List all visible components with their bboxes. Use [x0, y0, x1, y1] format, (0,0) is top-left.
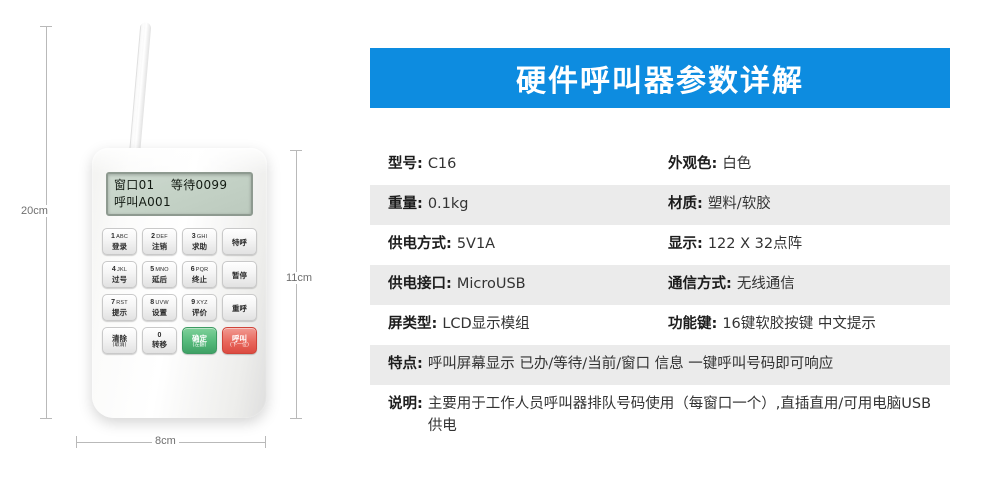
spec-cell-model: 型号: C16: [388, 154, 668, 176]
dim-width-label: 8cm: [152, 435, 179, 447]
dim-width-tick-right: [265, 436, 266, 448]
key-confirm[interactable]: 确定 (左翻): [182, 327, 217, 354]
key-0-label: 转移: [152, 341, 167, 349]
key-clear-sublabel: (取消): [113, 343, 127, 348]
key-2-logout[interactable]: 2DEF 注销: [142, 228, 177, 255]
spec-cell-color: 外观色: 白色: [668, 154, 950, 176]
spec-row-weight: 重量: 0.1kg 材质: 塑料/软胶: [370, 185, 950, 225]
spec-value-feature: 呼叫屏幕显示 已办/等待/当前/窗口 信息 一键呼叫号码即可响应: [428, 354, 833, 376]
antenna: [129, 22, 151, 154]
spec-key-feature: 特点:: [388, 354, 423, 376]
key-3-letters: GHI: [197, 235, 207, 241]
key-1-label: 登录: [112, 243, 127, 251]
spec-cell-screen-type: 屏类型: LCD显示模组: [388, 314, 668, 336]
spec-cell-function-keys: 功能键: 16键软胶按键 中文提示: [668, 314, 950, 336]
spec-cell-note: 说明: 主要用于工作人员呼叫器排队号码使用（每窗口一个）,直插直用/可用电脑US…: [388, 394, 950, 438]
keypad-row-4: 清除 (取消) 0 转移 确定 (左翻) 呼叫 (下一位): [102, 327, 257, 354]
spec-row-feature: 特点: 呼叫屏幕显示 已办/等待/当前/窗口 信息 一键呼叫号码即可响应: [370, 345, 950, 385]
key-recall[interactable]: 重呼: [222, 294, 257, 321]
key-5-letters: MNO: [155, 268, 168, 274]
key-call-sublabel: (下一位): [230, 343, 249, 348]
keypad-row-3: 7RST 提示 8UVW 设置 9XYZ 评价 重呼: [102, 294, 257, 321]
spec-cell-feature: 特点: 呼叫屏幕显示 已办/等待/当前/窗口 信息 一键呼叫号码即可响应: [388, 354, 950, 376]
spec-key-note: 说明:: [388, 394, 423, 416]
key-1-login[interactable]: 1ABC 登录: [102, 228, 137, 255]
key-9-label: 评价: [192, 309, 207, 317]
key-call[interactable]: 呼叫 (下一位): [222, 327, 257, 354]
dim-height-body-label: 11cm: [283, 272, 315, 284]
key-7-label: 提示: [112, 309, 127, 317]
dim-height-body-tick-bottom: [290, 418, 302, 419]
spec-key-power: 供电方式:: [388, 234, 452, 256]
spec-row-screen-type: 屏类型: LCD显示模组 功能键: 16键软胶按键 中文提示: [370, 305, 950, 345]
spec-cell-port: 供电接口: MicroUSB: [388, 274, 668, 296]
spec-value-note: 主要用于工作人员呼叫器排队号码使用（每窗口一个）,直插直用/可用电脑USB供电: [428, 394, 936, 438]
dim-height-total-tick-top: [40, 26, 52, 27]
dim-height-total-label: 20cm: [18, 205, 51, 217]
spec-key-port: 供电接口:: [388, 274, 452, 296]
key-3-number: 3: [192, 233, 196, 240]
spec-cell-material: 材质: 塑料/软胶: [668, 194, 950, 216]
key-confirm-sublabel: (左翻): [193, 343, 207, 348]
spec-value-display: 122 X 32点阵: [708, 234, 802, 256]
key-8-settings[interactable]: 8UVW 设置: [142, 294, 177, 321]
spec-key-display: 显示:: [668, 234, 703, 256]
keypad[interactable]: 1ABC 登录 2DEF 注销 3GHI 求助 特呼: [102, 228, 257, 360]
key-2-label: 注销: [152, 243, 167, 251]
spec-banner-title: 硬件呼叫器参数详解: [370, 48, 950, 108]
key-1-letters: ABC: [116, 235, 128, 241]
spec-value-material: 塑料/软胶: [708, 194, 771, 216]
key-pause[interactable]: 暂停: [222, 261, 257, 288]
key-special-call[interactable]: 特呼: [222, 228, 257, 255]
spec-key-screen-type: 屏类型:: [388, 314, 437, 336]
key-8-number: 8: [150, 299, 154, 306]
key-6-letters: PQR: [196, 268, 209, 274]
dim-width-tick-left: [76, 436, 77, 448]
keypad-row-1: 1ABC 登录 2DEF 注销 3GHI 求助 特呼: [102, 228, 257, 255]
spec-row-port: 供电接口: MicroUSB 通信方式: 无线通信: [370, 265, 950, 305]
product-spec-page: 窗口01 等待0099 呼叫A001 1ABC 登录 2DEF 注销 3GHI: [0, 0, 1000, 492]
spec-cell-display: 显示: 122 X 32点阵: [668, 234, 950, 256]
key-5-label: 延后: [152, 276, 167, 284]
keypad-row-2: 4JKL 过号 5MNO 延后 6PQR 终止 暂停: [102, 261, 257, 288]
key-1-number: 1: [111, 233, 115, 240]
spec-cell-weight: 重量: 0.1kg: [388, 194, 668, 216]
key-9-number: 9: [191, 299, 195, 306]
key-4-number: 4: [112, 266, 116, 273]
key-recall-label: 重呼: [232, 305, 247, 313]
spec-key-function-keys: 功能键:: [668, 314, 717, 336]
key-6-number: 6: [191, 266, 195, 273]
spec-row-power: 供电方式: 5V1A 显示: 122 X 32点阵: [370, 225, 950, 265]
caller-device-body: 窗口01 等待0099 呼叫A001 1ABC 登录 2DEF 注销 3GHI: [92, 148, 267, 418]
spec-key-model: 型号:: [388, 154, 423, 176]
key-8-label: 设置: [152, 309, 167, 317]
spec-key-material: 材质:: [668, 194, 703, 216]
key-4-letters: JKL: [117, 268, 127, 274]
lcd-line-2: 呼叫A001: [114, 194, 245, 211]
key-6-terminate[interactable]: 6PQR 终止: [182, 261, 217, 288]
key-2-number: 2: [151, 233, 155, 240]
spec-value-function-keys: 16键软胶按键 中文提示: [722, 314, 876, 336]
key-4-skip[interactable]: 4JKL 过号: [102, 261, 137, 288]
key-2-letters: DEF: [156, 235, 168, 241]
spec-key-weight: 重量:: [388, 194, 423, 216]
key-0-number: 0: [157, 332, 161, 339]
dim-height-body-line: [296, 150, 297, 418]
spec-row-model: 型号: C16 外观色: 白色: [370, 145, 950, 185]
key-3-help[interactable]: 3GHI 求助: [182, 228, 217, 255]
spec-value-communication: 无线通信: [737, 274, 795, 296]
device-highlight: [92, 148, 267, 174]
key-6-label: 终止: [192, 276, 207, 284]
dim-height-total-line: [46, 26, 47, 418]
spec-value-model: C16: [428, 154, 457, 176]
key-7-number: 7: [111, 299, 115, 306]
spec-value-port: MicroUSB: [457, 274, 526, 296]
key-clear[interactable]: 清除 (取消): [102, 327, 137, 354]
key-5-postpone[interactable]: 5MNO 延后: [142, 261, 177, 288]
spec-value-color: 白色: [722, 154, 751, 176]
spec-table: 型号: C16 外观色: 白色 重量: 0.1kg 材质: 塑料/软胶: [370, 145, 950, 447]
key-5-number: 5: [150, 266, 154, 273]
spec-value-screen-type: LCD显示模组: [442, 314, 529, 336]
key-9-letters: XYZ: [196, 301, 207, 307]
spec-value-weight: 0.1kg: [428, 194, 469, 216]
key-7-prompt[interactable]: 7RST 提示: [102, 294, 137, 321]
key-4-label: 过号: [112, 276, 127, 284]
key-7-letters: RST: [116, 301, 128, 307]
product-photo-pane: 窗口01 等待0099 呼叫A001 1ABC 登录 2DEF 注销 3GHI: [0, 0, 350, 492]
key-pause-label: 暂停: [232, 272, 247, 280]
key-9-rating[interactable]: 9XYZ 评价: [182, 294, 217, 321]
spec-pane: 硬件呼叫器参数详解 型号: C16 外观色: 白色 重量: 0.1kg 材质: [370, 0, 970, 492]
key-3-label: 求助: [192, 243, 207, 251]
spec-row-note: 说明: 主要用于工作人员呼叫器排队号码使用（每窗口一个）,直插直用/可用电脑US…: [370, 385, 950, 447]
lcd-screen: 窗口01 等待0099 呼叫A001: [106, 172, 253, 216]
dim-height-body-tick-top: [290, 150, 302, 151]
spec-key-color: 外观色:: [668, 154, 717, 176]
spec-cell-communication: 通信方式: 无线通信: [668, 274, 950, 296]
spec-key-communication: 通信方式:: [668, 274, 732, 296]
lcd-line-1: 窗口01 等待0099: [114, 177, 245, 194]
dim-height-total-tick-bottom: [40, 418, 52, 419]
spec-value-power: 5V1A: [457, 234, 495, 256]
key-0-transfer[interactable]: 0 转移: [142, 327, 177, 354]
spec-cell-power: 供电方式: 5V1A: [388, 234, 668, 256]
key-8-letters: UVW: [155, 301, 168, 307]
key-special-call-label: 特呼: [232, 239, 247, 247]
